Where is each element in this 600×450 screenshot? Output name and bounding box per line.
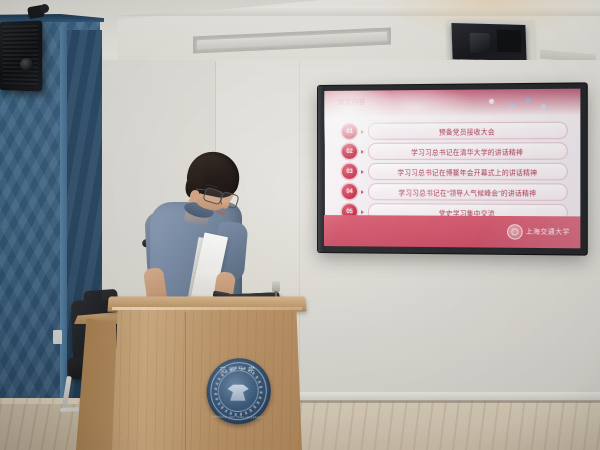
emblem-anvil-icon	[227, 383, 249, 401]
lectern-edge-highlight	[112, 307, 302, 310]
wood-grain-texture	[112, 307, 302, 450]
lectern-panel-seam	[185, 312, 186, 450]
wooden-lectern	[112, 307, 302, 450]
conference-room-photo: 会议内容 01 预备党员接收大会 02 学习习总书记在清华大学的讲话精神 03	[0, 0, 600, 450]
